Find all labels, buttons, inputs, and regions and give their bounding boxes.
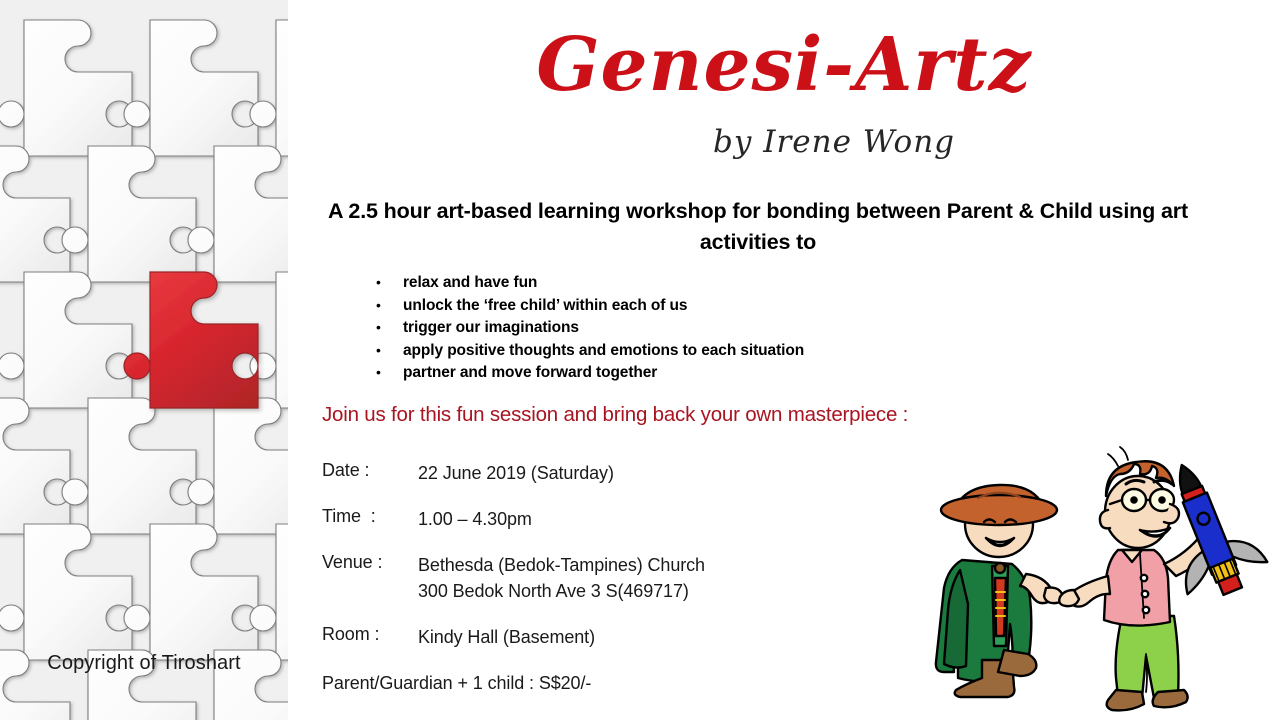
detail-value: 1.00 – 4.30pm — [418, 506, 532, 532]
detail-label: Room : — [322, 624, 418, 645]
list-item: • apply positive thoughts and emotions t… — [376, 342, 1176, 365]
workshop-headline: A 2.5 hour art-based learning workshop f… — [328, 196, 1188, 258]
detail-row-room: Room : Kindy Hall (Basement) — [322, 624, 942, 650]
detail-value: Bethesda (Bedok-Tampines) Church 300 Bed… — [418, 552, 705, 604]
jigsaw-puzzle-icon — [0, 0, 288, 720]
page-title: Genesi-Artz — [288, 28, 1280, 102]
detail-row-venue: Venue : Bethesda (Bedok-Tampines) Church… — [322, 552, 942, 604]
detail-label: Venue : — [322, 552, 418, 573]
content-area: Genesi-Artz by Irene Wong A 2.5 hour art… — [288, 0, 1280, 720]
poster-canvas: Copyright of Tiroshart Genesi-Artz by Ir… — [0, 0, 1280, 720]
bullet-icon: • — [376, 320, 403, 334]
list-item-label: partner and move forward together — [403, 364, 657, 382]
detail-value: 22 June 2019 (Saturday) — [418, 460, 614, 486]
call-to-action-tagline: Join us for this fun session and bring b… — [322, 403, 908, 427]
event-details-list: Date : 22 June 2019 (Saturday) Time : 1.… — [322, 460, 942, 717]
list-item: • unlock the ‘free child’ within each of… — [376, 297, 1176, 320]
puzzle-graphic-panel: Copyright of Tiroshart — [0, 0, 288, 720]
list-item: • relax and have fun — [376, 274, 1176, 297]
list-item: • trigger our imaginations — [376, 319, 1176, 342]
bullet-icon: • — [376, 298, 403, 312]
detail-label: Time : — [322, 506, 418, 527]
list-item-label: apply positive thoughts and emotions to … — [403, 342, 804, 360]
cartoon-icon — [900, 438, 1280, 720]
detail-value: Kindy Hall (Basement) — [418, 624, 595, 650]
detail-row-price: Parent/Guardian + 1 child : S$20/- — [322, 670, 942, 696]
list-item-label: trigger our imaginations — [403, 319, 579, 337]
author-byline: by Irene Wong — [288, 124, 1280, 160]
list-item: • partner and move forward together — [376, 364, 1176, 387]
bullet-icon: • — [376, 275, 403, 289]
copyright-label: Copyright of Tiroshart — [0, 652, 288, 675]
parent-child-illustration — [900, 438, 1280, 720]
bullet-icon: • — [376, 365, 403, 379]
detail-row-time: Time : 1.00 – 4.30pm — [322, 506, 942, 532]
list-item-label: unlock the ‘free child’ within each of u… — [403, 297, 687, 315]
benefits-list: • relax and have fun • unlock the ‘free … — [376, 274, 1176, 387]
detail-label: Date : — [322, 460, 418, 481]
price-label: Parent/Guardian + 1 child : S$20/- — [322, 670, 942, 696]
bullet-icon: • — [376, 343, 403, 357]
list-item-label: relax and have fun — [403, 274, 537, 292]
detail-row-date: Date : 22 June 2019 (Saturday) — [322, 460, 942, 486]
